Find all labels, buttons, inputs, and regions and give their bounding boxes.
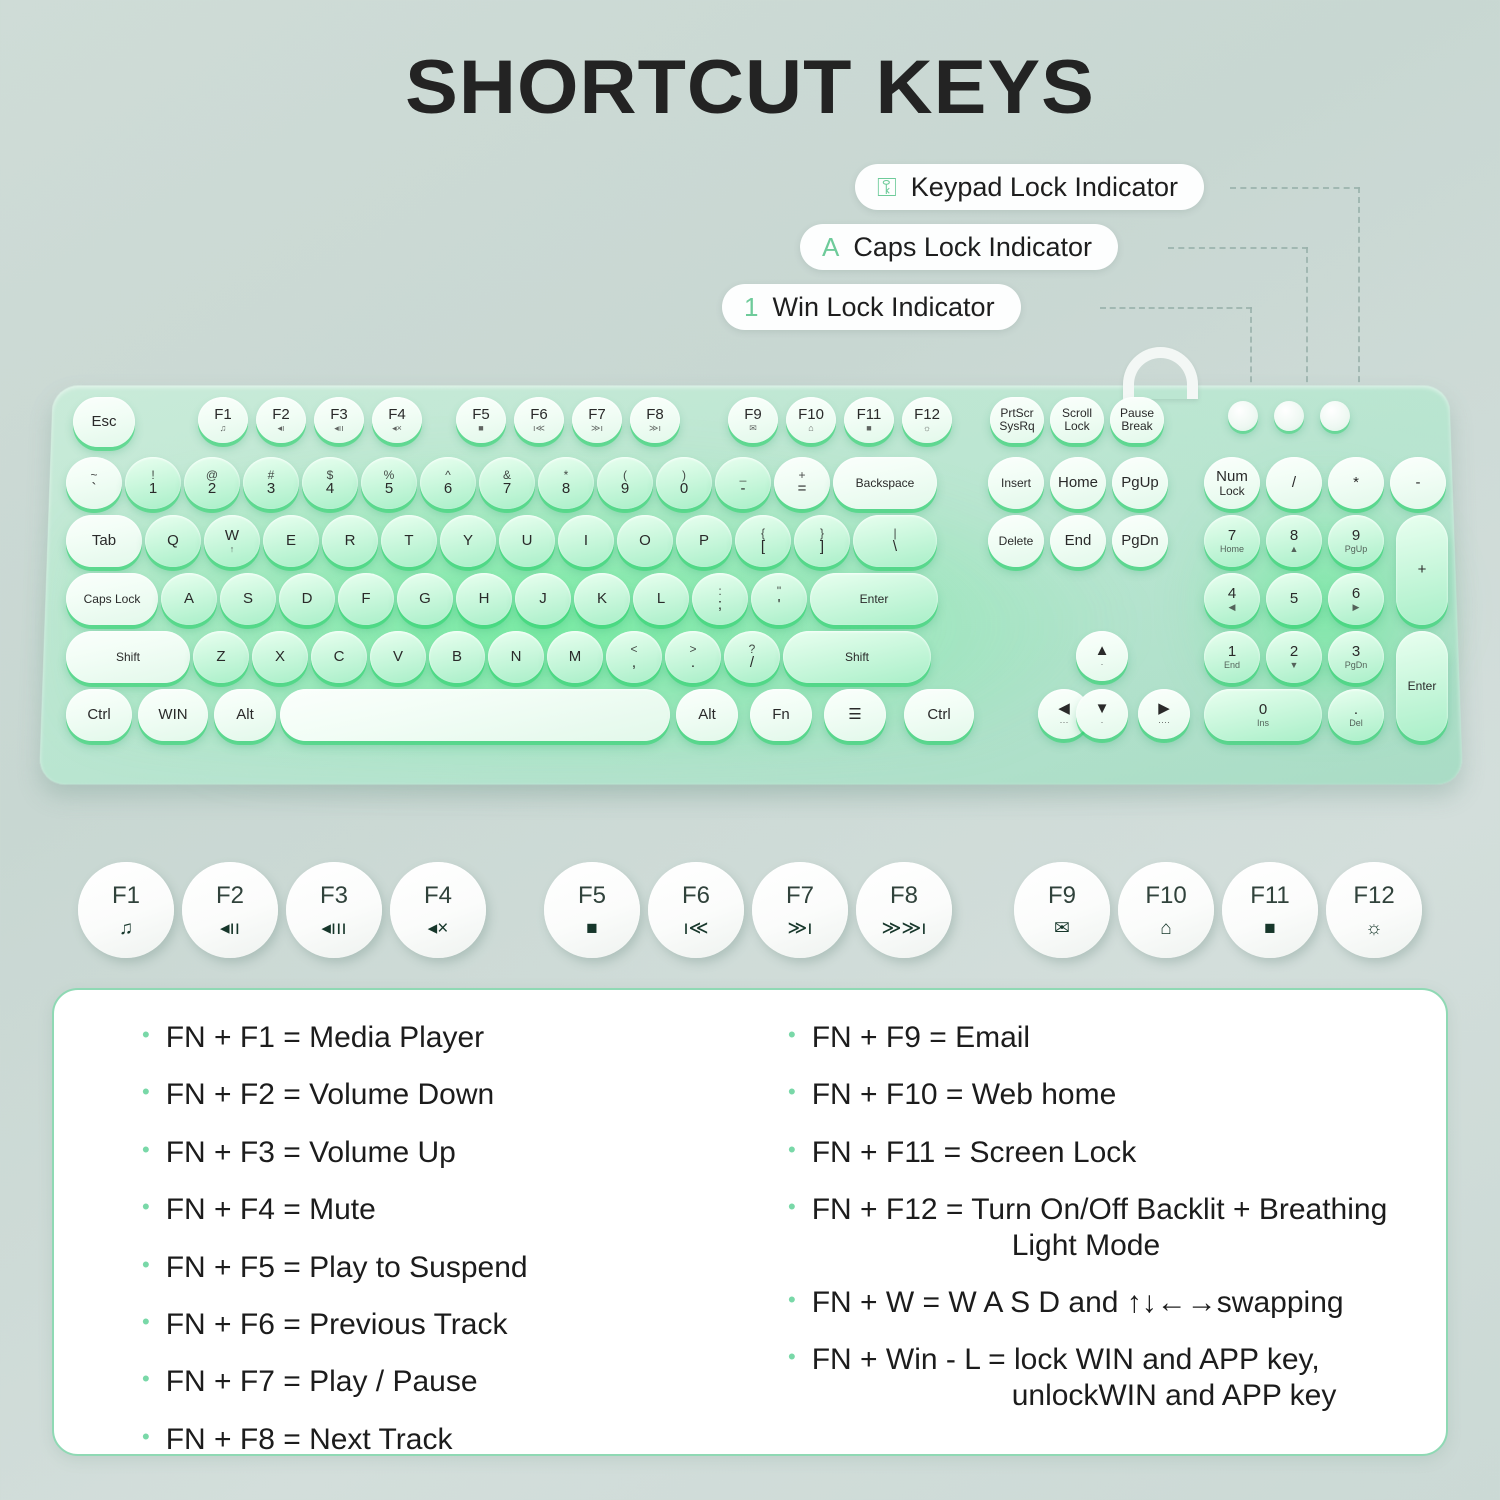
volume-up-icon: ◂ııı: [321, 918, 346, 938]
key-backspace: Backspace: [833, 457, 937, 509]
key-legend: 8: [562, 481, 570, 497]
key-f5: F5■: [456, 397, 506, 443]
numpad-key-8: 8▲: [1266, 515, 1322, 567]
fkey-f7: F7≫ı: [752, 862, 848, 958]
music-note-icon: ♫: [119, 918, 133, 938]
key-f4: F4◂×: [372, 397, 422, 443]
key-legend: V: [393, 649, 403, 665]
key-shift: Shift: [66, 631, 190, 683]
key-legend: Shift: [845, 651, 869, 664]
fkey-f6: F6ı≪: [648, 862, 744, 958]
shortcut-list-item: •FN + F1 = Media Player: [142, 1020, 770, 1055]
key-legend: Alt: [698, 707, 716, 723]
key-legend: I: [584, 533, 588, 549]
key-f3: F3◂ıı: [314, 397, 364, 443]
shortcut-text: FN + F7 = Play / Pause: [166, 1364, 478, 1399]
key-.: >.: [665, 631, 721, 683]
bullet-icon: •: [788, 1135, 796, 1165]
shortcut-text: FN + F12 = Turn On/Off Backlit + Breathi…: [812, 1192, 1388, 1263]
key-legend: M: [569, 649, 582, 665]
key-shift: Shift: [783, 631, 931, 683]
key-legend: .: [691, 655, 695, 671]
key-☰: ☰: [824, 689, 886, 741]
shortcut-list-item: •FN + F2 = Volume Down: [142, 1077, 770, 1112]
numpad-key-6: 6▶: [1328, 573, 1384, 625]
key-legend: G: [419, 591, 431, 607]
key-legend: F6: [530, 407, 548, 423]
numpad-key-0: 0Ins: [1204, 689, 1322, 741]
key-4: $4: [302, 457, 358, 509]
key-legend-sub: ·: [1101, 718, 1104, 727]
key-legend: 0: [1259, 702, 1267, 718]
numpad-key-: .Del: [1328, 689, 1384, 741]
key-`: ~`: [66, 457, 122, 509]
key-legend: O: [639, 533, 651, 549]
key-legend: Insert: [1001, 477, 1031, 490]
key-m: M: [547, 631, 603, 683]
key-legend-sub: ≫ı: [591, 424, 603, 433]
key-legend: W: [225, 528, 239, 544]
key-c: C: [311, 631, 367, 683]
key-legend: F4: [388, 407, 406, 423]
key-legend: H: [479, 591, 490, 607]
key-legend: B: [452, 649, 462, 665]
key-legend-top: ^: [445, 469, 451, 482]
key-[: {[: [735, 515, 791, 567]
key-legend: Q: [167, 533, 179, 549]
key-f11: F11■: [844, 397, 894, 443]
key-legend: F: [361, 591, 370, 607]
key-legend-sub: ▲: [1290, 545, 1299, 554]
key-legend-top: #: [268, 469, 275, 482]
key-]: }]: [794, 515, 850, 567]
numpad-key-: /: [1266, 457, 1322, 509]
numpad-key-1: 1End: [1204, 631, 1260, 683]
key-legend-sub: ▶: [1353, 603, 1360, 612]
bullet-icon: •: [142, 1250, 150, 1280]
stop-icon: ■: [586, 918, 597, 938]
key-legend-top: _: [740, 469, 747, 482]
numpad-key-: +: [1396, 515, 1448, 625]
fkey-label: F8: [890, 882, 918, 910]
key-fn: Fn: [750, 689, 812, 741]
key-q: Q: [145, 515, 201, 567]
key-k: K: [574, 573, 630, 625]
key-legend-sub: PgUp: [1345, 545, 1368, 554]
fkey-label: F4: [424, 882, 452, 910]
key-legend-sub: ◂ıı: [334, 424, 344, 433]
key-legend: F2: [272, 407, 290, 423]
key-legend: 7: [503, 481, 511, 497]
key-insert: Insert: [988, 457, 1044, 509]
key-legend: P: [699, 533, 709, 549]
key-legend: Caps Lock: [84, 593, 141, 606]
shortcut-text: FN + F9 = Email: [812, 1020, 1030, 1055]
key-s: S: [220, 573, 276, 625]
key-legend: Shift: [116, 651, 140, 664]
key-legend-sub: ≫ı: [649, 424, 661, 433]
key-legend: 8: [1290, 528, 1298, 544]
numpad-key-3: 3PgDn: [1328, 631, 1384, 683]
key-legend: /: [1292, 475, 1296, 491]
fkey-f11: F11■: [1222, 862, 1318, 958]
key-legend-top: :: [718, 585, 721, 598]
key-pause: PauseBreak: [1110, 397, 1164, 443]
key-\: |\: [853, 515, 937, 567]
key-,: <,: [606, 631, 662, 683]
key-legend: J: [539, 591, 547, 607]
fkey-label: F5: [578, 882, 606, 910]
key-legend: ▼: [1095, 701, 1110, 717]
key-h: H: [456, 573, 512, 625]
shortcut-text: FN + Win - L = lock WIN and APP key,unlo…: [812, 1342, 1337, 1413]
key-legend: Esc: [91, 414, 116, 430]
key-legend-line2: Lock: [1064, 420, 1089, 433]
numpad-key-: *: [1328, 457, 1384, 509]
key-legend-sub: ·: [1101, 660, 1104, 669]
key-legend: Tab: [92, 533, 116, 549]
caps-lock-led: [1274, 401, 1304, 431]
shortcut-text: FN + F1 = Media Player: [166, 1020, 484, 1055]
shortcut-text: FN + F2 = Volume Down: [166, 1077, 494, 1112]
key-home: Home: [1050, 457, 1106, 509]
key-legend: Home: [1058, 475, 1098, 491]
key-f: F: [338, 573, 394, 625]
key-legend: 1: [1228, 644, 1236, 660]
key-arrow-3: ▶····: [1138, 689, 1190, 739]
key-o: O: [617, 515, 673, 567]
numpad-key-2: 2▼: [1266, 631, 1322, 683]
key-legend-top: {: [761, 527, 765, 540]
key-legend: Fn: [772, 707, 790, 723]
key-scroll: ScrollLock: [1050, 397, 1104, 443]
key-legend-top: ?: [749, 643, 756, 656]
key-f9: F9✉: [728, 397, 778, 443]
numpad-key-9: 9PgUp: [1328, 515, 1384, 567]
key-legend: Y: [463, 533, 473, 549]
key-p: P: [676, 515, 732, 567]
key-f10: F10⌂: [786, 397, 836, 443]
key-legend-line2: Lock: [1219, 485, 1244, 498]
key-legend-sub: ↑: [230, 545, 235, 554]
shortcut-text: FN + W = W A S D and ↑↓←→swapping: [812, 1285, 1344, 1320]
fkey-f9: F9✉: [1014, 862, 1110, 958]
key-legend: F5: [472, 407, 490, 423]
shortcut-text: FN + F10 = Web home: [812, 1077, 1117, 1112]
key-;: :;: [692, 573, 748, 625]
key-legend: .: [1354, 702, 1358, 718]
numpad-key-Enter: Enter: [1396, 631, 1448, 741]
letter-a-icon: A: [822, 234, 839, 260]
key-pgdn: PgDn: [1112, 515, 1168, 567]
key-legend: 3: [1352, 644, 1360, 660]
key-legend: 2: [1290, 644, 1298, 660]
shortcut-text: FN + F11 = Screen Lock: [812, 1135, 1137, 1170]
key-legend: F11: [857, 407, 882, 423]
shortcut-column-left: •FN + F1 = Media Player•FN + F2 = Volume…: [84, 1020, 770, 1430]
key-arrow-2: ▼·: [1076, 689, 1128, 739]
key-legend: End: [1065, 533, 1092, 549]
key-pgup: PgUp: [1112, 457, 1168, 509]
bullet-icon: •: [788, 1285, 796, 1315]
key-legend: ]: [820, 539, 824, 555]
leader-line: [1168, 247, 1308, 249]
key-ctrl: Ctrl: [904, 689, 974, 741]
bullet-icon: •: [788, 1077, 796, 1107]
key-f6: F6ı≪: [514, 397, 564, 443]
bullet-icon: •: [788, 1192, 796, 1222]
page-title: SHORTCUT KEYS: [0, 44, 1500, 131]
key-u: U: [499, 515, 555, 567]
key-9: (9: [597, 457, 653, 509]
fkey-label: F12: [1353, 882, 1394, 910]
key-legend: Backspace: [856, 477, 915, 490]
key-legend: U: [522, 533, 533, 549]
fkey-f12: F12☼: [1326, 862, 1422, 958]
key-legend-sub: ■: [478, 424, 483, 433]
shortcut-text: FN + F4 = Mute: [166, 1192, 376, 1227]
key-j: J: [515, 573, 571, 625]
numpad-key-5: 5: [1266, 573, 1322, 625]
key-legend-line2: Break: [1121, 420, 1152, 433]
key-legend-sub: End: [1224, 661, 1240, 670]
fkey-f1: F1♫: [78, 862, 174, 958]
key-2: @2: [184, 457, 240, 509]
key-caps lock: Caps Lock: [66, 573, 158, 625]
key-legend: PgDn: [1121, 533, 1159, 549]
callout-keypad-lock: ⚿ Keypad Lock Indicator: [855, 164, 1204, 210]
lock-icon: ■: [1264, 918, 1275, 938]
callout-caps-lock: A Caps Lock Indicator: [800, 224, 1118, 270]
key-legend-top: !: [151, 469, 154, 482]
shortcut-list-item: •FN + F6 = Previous Track: [142, 1307, 770, 1342]
key-1: !1: [125, 457, 181, 509]
key-legend-top: >: [689, 643, 696, 656]
shortcut-list-item: •FN + Win - L = lock WIN and APP key,unl…: [788, 1342, 1416, 1413]
fkey-f4: F4◂×: [390, 862, 486, 958]
bullet-icon: •: [142, 1020, 150, 1050]
key-legend: 9: [621, 481, 629, 497]
shortcut-list-item: •FN + F12 = Turn On/Off Backlit + Breath…: [788, 1192, 1416, 1263]
key-legend: 5: [385, 481, 393, 497]
key-legend: R: [345, 533, 356, 549]
fkey-f3: F3◂ııı: [286, 862, 382, 958]
key-delete: Delete: [988, 515, 1044, 567]
key-legend-sub: ◂ı: [277, 424, 284, 433]
shortcut-text-continued: unlockWIN and APP key: [812, 1378, 1337, 1413]
shortcut-list-item: •FN + F3 = Volume Up: [142, 1135, 770, 1170]
fkey-label: F3: [320, 882, 348, 910]
key--: _-: [715, 457, 771, 509]
play-pause-icon: ≫ı: [787, 918, 812, 938]
key-r: R: [322, 515, 378, 567]
key-legend-sub: ı≪: [533, 424, 545, 433]
key-ctrl: Ctrl: [66, 689, 132, 741]
key-legend-top: ): [682, 469, 686, 482]
fkey-label: F1: [112, 882, 140, 910]
shortcut-text: FN + F6 = Previous Track: [166, 1307, 508, 1342]
volume-down-icon: ◂ıı: [220, 918, 240, 938]
key-legend: 0: [680, 481, 688, 497]
key-legend-top: }: [820, 527, 824, 540]
key-legend-top: *: [564, 469, 569, 482]
key-legend: Z: [216, 649, 225, 665]
key-f12: F12☼: [902, 397, 952, 443]
key-legend-sub: Ins: [1257, 719, 1269, 728]
next-track-icon: ≫≫ı: [881, 918, 926, 938]
key-legend-sub: ☼: [923, 424, 931, 433]
key-f7: F7≫ı: [572, 397, 622, 443]
previous-track-icon: ı≪: [683, 918, 708, 938]
key-legend: F1: [214, 407, 232, 423]
key-f2: F2◂ı: [256, 397, 306, 443]
key-legend: 6: [1352, 586, 1360, 602]
key-7: &7: [479, 457, 535, 509]
key-legend: F8: [646, 407, 664, 423]
key-legend: 2: [208, 481, 216, 497]
shortcut-list-item: •FN + F9 = Email: [788, 1020, 1416, 1055]
bullet-icon: •: [142, 1307, 150, 1337]
key-legend: ▲: [1095, 643, 1110, 659]
key-b: B: [429, 631, 485, 683]
key-legend-sub: Home: [1220, 545, 1244, 554]
key-legend-sub: ✉: [749, 424, 757, 433]
key-i: I: [558, 515, 614, 567]
fkey-f2: F2◂ıı: [182, 862, 278, 958]
fkey-label: F9: [1048, 882, 1076, 910]
key-z: Z: [193, 631, 249, 683]
key-legend: L: [657, 591, 665, 607]
bullet-icon: •: [788, 1020, 796, 1050]
key-': "': [751, 573, 807, 625]
key-legend: C: [334, 649, 345, 665]
bullet-icon: •: [142, 1364, 150, 1394]
key-legend-top: |: [893, 527, 896, 540]
key-y: Y: [440, 515, 496, 567]
number-one-icon: 1: [744, 294, 758, 320]
fkey-label: F6: [682, 882, 710, 910]
key-legend: `: [92, 481, 97, 497]
key-legend: Delete: [999, 535, 1034, 548]
fkey-label: F7: [786, 882, 814, 910]
bullet-icon: •: [142, 1192, 150, 1222]
shortcut-text: FN + F5 = Play to Suspend: [166, 1250, 528, 1285]
shortcut-list-item: •FN + F5 = Play to Suspend: [142, 1250, 770, 1285]
key-legend: ,: [632, 655, 636, 671]
key-legend: 4: [326, 481, 334, 497]
key-legend-top: (: [623, 469, 627, 482]
win-lock-led: [1320, 401, 1350, 431]
key-legend-top: $: [327, 469, 334, 482]
key-5: %5: [361, 457, 417, 509]
key-alt: Alt: [676, 689, 738, 741]
key-d: D: [279, 573, 335, 625]
key-=: +=: [774, 457, 830, 509]
key-legend: -: [1416, 475, 1421, 491]
key-legend: 9: [1352, 528, 1360, 544]
key-legend: ☰: [848, 707, 861, 723]
shortcut-list-item: •FN + F7 = Play / Pause: [142, 1364, 770, 1399]
key-legend: Enter: [1408, 680, 1437, 693]
key-prtscr: PrtScrSysRq: [990, 397, 1044, 443]
key-v: V: [370, 631, 426, 683]
key-/: ?/: [724, 631, 780, 683]
key-3: #3: [243, 457, 299, 509]
key-t: T: [381, 515, 437, 567]
key-legend: ': [778, 597, 781, 613]
shortcut-text: FN + F8 = Next Track: [166, 1422, 453, 1457]
key-legend-sub: ■: [866, 424, 871, 433]
key-legend: ▶: [1158, 701, 1170, 717]
key-legend: 5: [1290, 591, 1298, 607]
key-w: W↑: [204, 515, 260, 567]
key-esc: Esc: [73, 397, 135, 447]
callout-group: ⚿ Keypad Lock Indicator A Caps Lock Indi…: [0, 160, 1500, 360]
key-legend: -: [741, 481, 746, 497]
key-legend: F12: [914, 407, 940, 423]
fkey-f5: F5■: [544, 862, 640, 958]
key-g: G: [397, 573, 453, 625]
brightness-icon: ☼: [1365, 918, 1382, 938]
key-legend: 7: [1228, 528, 1236, 544]
key-legend: N: [511, 649, 522, 665]
key-legend: 1: [149, 481, 157, 497]
key-legend: [: [761, 539, 765, 555]
key-legend-top: %: [384, 469, 395, 482]
key-legend: S: [243, 591, 253, 607]
numpad-key-: -: [1390, 457, 1446, 509]
key-6: ^6: [420, 457, 476, 509]
key-legend-top: @: [206, 469, 218, 482]
key-legend: F10: [798, 407, 824, 423]
key-legend-sub: Del: [1349, 719, 1363, 728]
leader-line: [1100, 307, 1252, 309]
key-legend: A: [184, 591, 194, 607]
key-f1: F1♫: [198, 397, 248, 443]
key-8: *8: [538, 457, 594, 509]
fkey-label: F10: [1145, 882, 1186, 910]
key-end: End: [1050, 515, 1106, 567]
keyboard-illustration: EscF1♫F2◂ıF3◂ııF4◂×F5■F6ı≪F7≫ıF8≫ıF9✉F10…: [28, 375, 1468, 795]
fkey-label: F2: [216, 882, 244, 910]
leader-line: [1230, 187, 1360, 189]
key-space: [280, 689, 670, 741]
key-legend: WIN: [158, 707, 187, 723]
key-legend: Ctrl: [87, 707, 110, 723]
keypad-lock-led: [1228, 401, 1258, 431]
shortcut-list-item: •FN + F11 = Screen Lock: [788, 1135, 1416, 1170]
bullet-icon: •: [142, 1077, 150, 1107]
key-legend: K: [597, 591, 607, 607]
unlock-icon: ⚿: [877, 174, 897, 200]
key-enter: Enter: [810, 573, 938, 625]
key-legend: E: [286, 533, 296, 549]
key-legend: 3: [267, 481, 275, 497]
shortcut-list-item: •FN + F4 = Mute: [142, 1192, 770, 1227]
key-legend: *: [1353, 475, 1359, 491]
key-legend-top: <: [630, 643, 637, 656]
key-legend-top: +: [798, 469, 805, 482]
fkey-label: F11: [1250, 882, 1290, 910]
key-legend: Enter: [860, 593, 889, 606]
shortcut-list-item: •FN + F10 = Web home: [788, 1077, 1416, 1112]
key-f8: F8≫ı: [630, 397, 680, 443]
key-legend: 6: [444, 481, 452, 497]
shortcut-list-item: •FN + W = W A S D and ↑↓←→swapping: [788, 1285, 1416, 1320]
key-legend-sub: PgDn: [1345, 661, 1368, 670]
key-legend: =: [798, 481, 807, 497]
key-legend: F7: [588, 407, 606, 423]
